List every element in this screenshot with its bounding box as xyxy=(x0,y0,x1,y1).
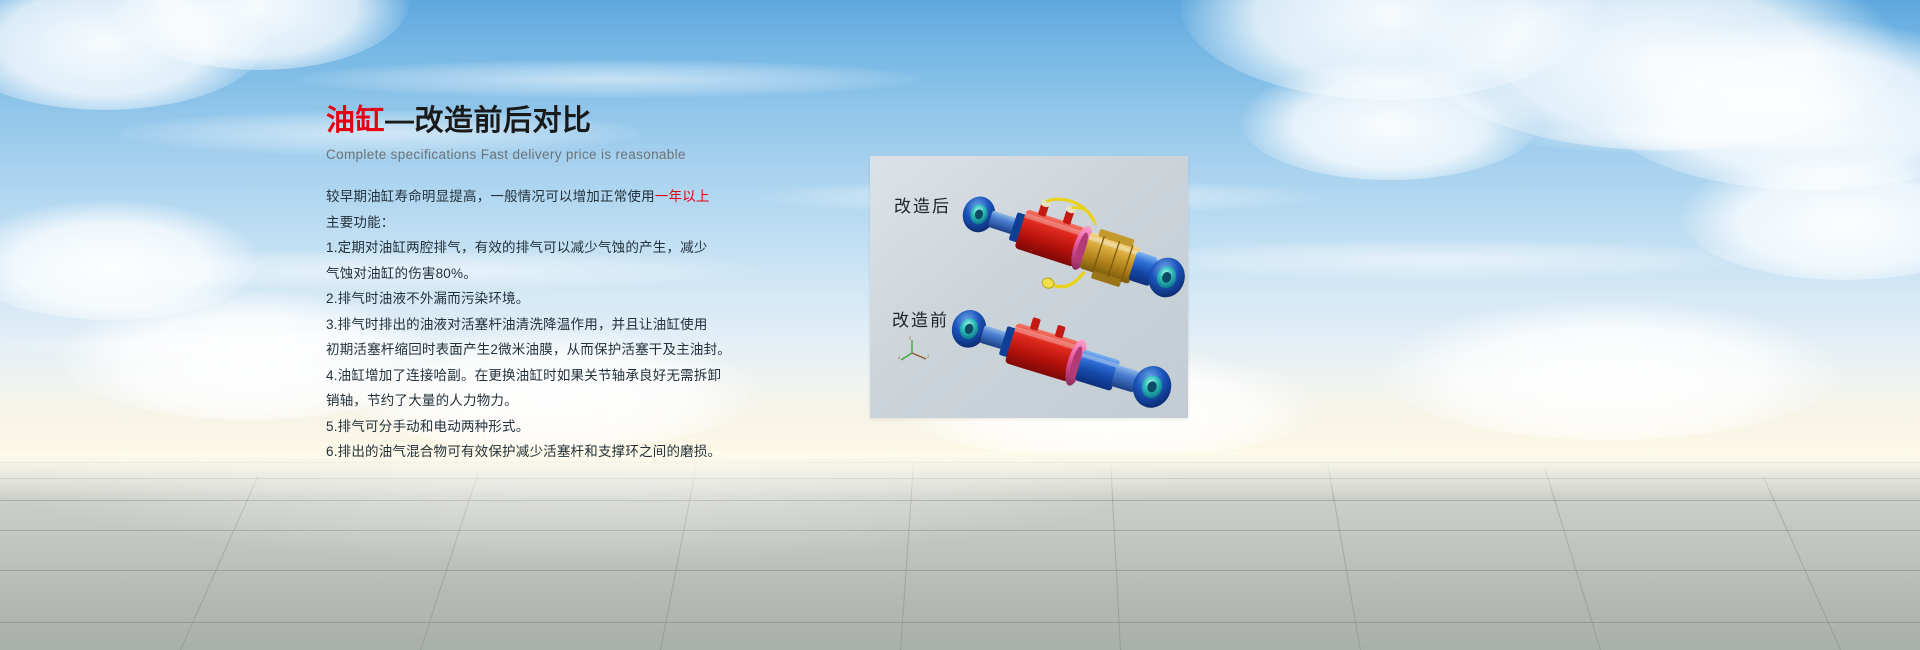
page-title-rest: —改造前后对比 xyxy=(385,105,592,137)
description-text: 2.排气时油液不外漏而污染环境。 xyxy=(326,291,529,306)
page-title: 油缸—改造前后对比 xyxy=(326,104,796,138)
description-text: 初期活塞杆缩回时表面产生2微米油膜，从而保护活塞干及主油封。 xyxy=(326,342,731,357)
description-text: 3.排气时排出的油液对活塞杆油清洗降温作用，并且让油缸使用 xyxy=(326,317,708,332)
label-after-modification: 改造后 xyxy=(894,192,951,217)
description-text: 6.排出的油气混合物可有效保护减少活塞杆和支撑环之间的磨损。 xyxy=(326,444,721,459)
product-comparison-image: 改造后 改造前 y x z xyxy=(870,156,1188,418)
description-text: 5.排气可分手动和电动两种形式。 xyxy=(326,419,529,434)
axis-label-x: x xyxy=(898,355,901,360)
cad-axis-gizmo: y x z xyxy=(898,334,932,362)
axis-z-line xyxy=(912,353,926,359)
axis-label-y: y xyxy=(909,335,912,340)
cloud-wisp xyxy=(300,60,920,98)
axis-x-line xyxy=(901,353,912,360)
cloud-wisp xyxy=(1500,120,1920,154)
description-line: 初期活塞杆缩回时表面产生2微米油膜，从而保护活塞干及主油封。 xyxy=(326,337,796,363)
description-line: 5.排气可分手动和电动两种形式。 xyxy=(326,414,796,440)
description-text: 1.定期对油缸两腔排气，有效的排气可以减少气蚀的产生，减少 xyxy=(326,240,708,255)
description-line: 4.油缸增加了连接哈副。在更换油缸时如果关节轴承良好无需拆卸 xyxy=(326,363,796,389)
description-line: 3.排气时排出的油液对活塞杆油清洗降温作用，并且让油缸使用 xyxy=(326,312,796,338)
banner-text-block: 油缸—改造前后对比 Complete specifications Fast d… xyxy=(326,104,796,465)
promo-banner: 油缸—改造前后对比 Complete specifications Fast d… xyxy=(0,0,1920,650)
page-subtitle: Complete specifications Fast delivery pr… xyxy=(326,147,796,162)
cloud-puff xyxy=(1680,150,1920,280)
description-line: 6.排出的油气混合物可有效保护减少活塞杆和支撑环之间的磨损。 xyxy=(326,439,796,465)
description-line: 气蚀对油缸的伤害80%。 xyxy=(326,261,796,287)
cloud-puff xyxy=(1420,0,1900,150)
cloud-puff xyxy=(1240,60,1540,180)
description-line: 2.排气时油液不外漏而污染环境。 xyxy=(326,286,796,312)
cloud-puff xyxy=(0,0,270,110)
description-line: 较早期油缸寿命明显提高，一般情况可以增加正常使用一年以上 xyxy=(326,184,796,210)
axis-label-z: z xyxy=(927,354,930,359)
description-line: 主要功能： xyxy=(326,210,796,236)
cloud-puff xyxy=(1600,20,1920,190)
description-line: 销轴，节约了大量的人力物力。 xyxy=(326,388,796,414)
label-before-modification: 改造前 xyxy=(892,306,949,331)
description-text: 4.油缸增加了连接哈副。在更换油缸时如果关节轴承良好无需拆卸 xyxy=(326,368,721,383)
description-text: 气蚀对油缸的伤害80%。 xyxy=(326,266,477,281)
cloud-puff xyxy=(1380,300,1840,440)
page-title-highlight: 油缸 xyxy=(326,105,385,137)
description-text: 销轴，节约了大量的人力物力。 xyxy=(326,393,518,408)
description-text: 较早期油缸寿命明显提高，一般情况可以增加正常使用 xyxy=(326,189,655,204)
description-highlight: 一年以上 xyxy=(655,189,710,204)
description-text: 主要功能： xyxy=(326,215,395,230)
horizon-haze xyxy=(0,452,1920,498)
pavement-ground xyxy=(0,452,1920,650)
feature-description-list: 较早期油缸寿命明显提高，一般情况可以增加正常使用一年以上 主要功能： 1.定期对… xyxy=(326,184,796,465)
description-line: 1.定期对油缸两腔排气，有效的排气可以减少气蚀的产生，减少 xyxy=(326,235,796,261)
cloud-puff xyxy=(1180,0,1600,100)
cloud-puff xyxy=(110,0,410,70)
cloud-wisp xyxy=(1120,240,1760,280)
cloud-puff xyxy=(0,200,260,320)
